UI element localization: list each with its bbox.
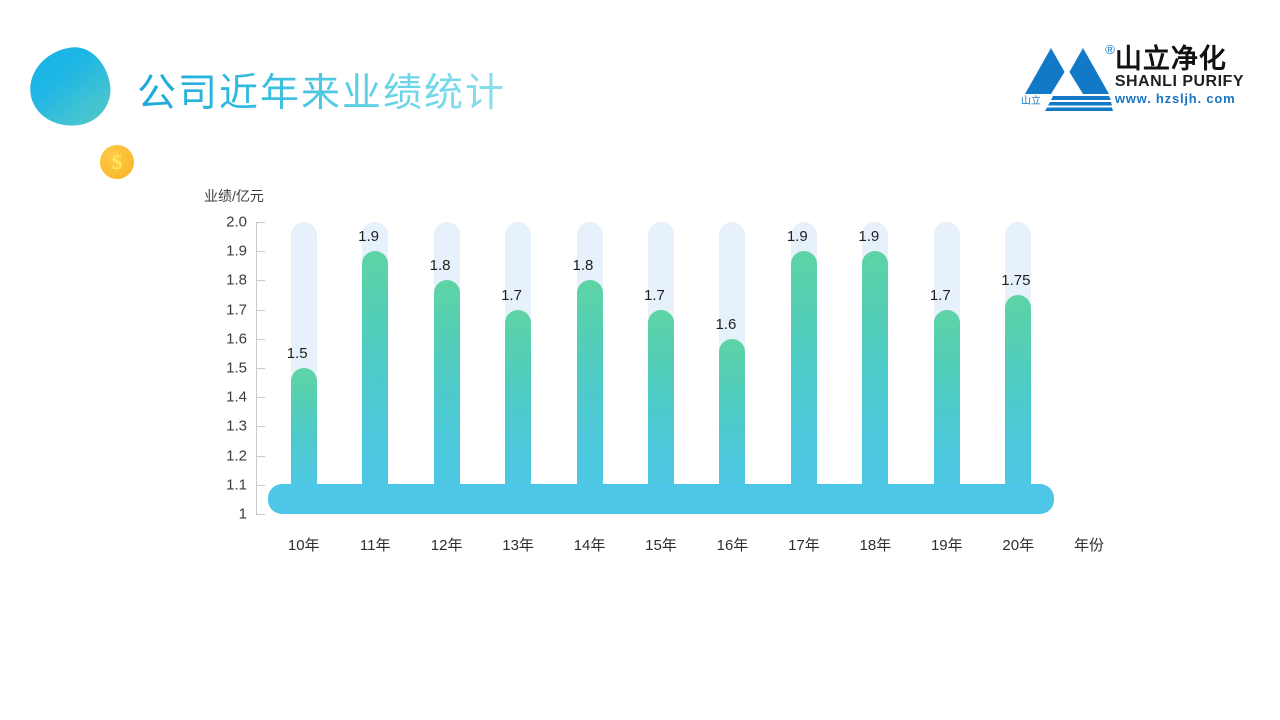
bar-fill[interactable] [362, 251, 388, 514]
bar-fill[interactable] [1005, 295, 1031, 514]
x-axis-label: 16年 [717, 538, 749, 553]
bar-fill[interactable] [862, 251, 888, 514]
y-axis-tick-label: 2.0 [226, 215, 247, 230]
y-axis-tick-label: 1.6 [226, 331, 247, 346]
y-axis-tick-label: 1.4 [226, 390, 247, 405]
company-logo: 山立 ® 山立净化 SHANLI PURIFY www. hzsljh. com [1021, 42, 1244, 114]
bar-value-label: 1.9 [858, 229, 879, 244]
x-axis-label: 20年 [1002, 538, 1034, 553]
plot-area: 11.11.21.31.41.51.61.71.81.92.0 1.51.91.… [256, 222, 1066, 514]
x-axis-label: 18年 [860, 538, 892, 553]
bar-value-label: 1.6 [715, 317, 736, 332]
logo-website-url: www. hzsljh. com [1115, 92, 1244, 105]
bar-value-label: 1.8 [430, 258, 451, 273]
x-axis-labels: 10年11年12年13年14年15年16年17年18年19年20年 [256, 538, 1066, 562]
y-axis-tick: 1 [256, 514, 265, 515]
y-axis-tick-label: 1.8 [226, 273, 247, 288]
bar-fill[interactable] [434, 280, 460, 514]
bar-value-label: 1.8 [573, 258, 594, 273]
bar-value-label: 1.75 [1001, 273, 1030, 288]
bar-fill[interactable] [577, 280, 603, 514]
x-axis-label: 11年 [360, 538, 391, 553]
bar-value-label: 1.7 [644, 288, 665, 303]
bar-baseline [268, 484, 1054, 514]
bar-value-label: 1.7 [501, 288, 522, 303]
y-axis-tick-label: 1.3 [226, 419, 247, 434]
y-axis-tick-label: 1.7 [226, 302, 247, 317]
logo-name-cn: 山立净化 [1115, 46, 1244, 73]
y-axis-title: 业绩/亿元 [204, 186, 264, 206]
logo-mark-label: 山立 [1021, 92, 1041, 107]
y-axis-tick-label: 1.2 [226, 448, 247, 463]
page-title: 公司近年来业绩统计 [137, 62, 506, 118]
x-axis-label: 19年 [931, 538, 963, 553]
bar-value-label: 1.9 [358, 229, 379, 244]
dollar-coin-symbol: $ [112, 152, 123, 173]
x-axis-title: 年份 [1074, 538, 1104, 553]
slide: $ 公司近年来业绩统计 山立 ® 山立净化 SHANLI PURIFY www.… [0, 0, 1280, 720]
bar-value-label: 1.9 [787, 229, 808, 244]
registered-trademark-icon: ® [1105, 42, 1115, 57]
bar-value-label: 1.7 [930, 288, 951, 303]
x-axis-label: 15年 [645, 538, 677, 553]
y-axis-tick-label: 1 [239, 507, 247, 522]
logo-name-en: SHANLI PURIFY [1115, 74, 1244, 90]
dollar-coin-icon: $ [100, 145, 134, 179]
x-axis-label: 14年 [574, 538, 606, 553]
x-axis-label: 17年 [788, 538, 820, 553]
y-axis-tick-label: 1.5 [226, 361, 247, 376]
x-axis-label: 12年 [431, 538, 463, 553]
bar-value-label: 1.5 [287, 346, 308, 361]
logo-mountain-icon: 山立 ® [1021, 42, 1113, 114]
blob-decoration [25, 43, 115, 131]
bar-series: 1.51.91.81.71.81.71.61.91.91.71.75 [256, 222, 1066, 514]
x-axis-label: 10年 [288, 538, 320, 553]
y-axis-tick-label: 1.9 [226, 244, 247, 259]
performance-bar-chart: 业绩/亿元 11.11.21.31.41.51.61.71.81.92.0 1.… [196, 186, 1096, 586]
bar-fill[interactable] [791, 251, 817, 514]
x-axis-label: 13年 [502, 538, 534, 553]
y-axis-tick-label: 1.1 [226, 477, 247, 492]
logo-text-block: 山立净化 SHANLI PURIFY www. hzsljh. com [1115, 46, 1244, 105]
